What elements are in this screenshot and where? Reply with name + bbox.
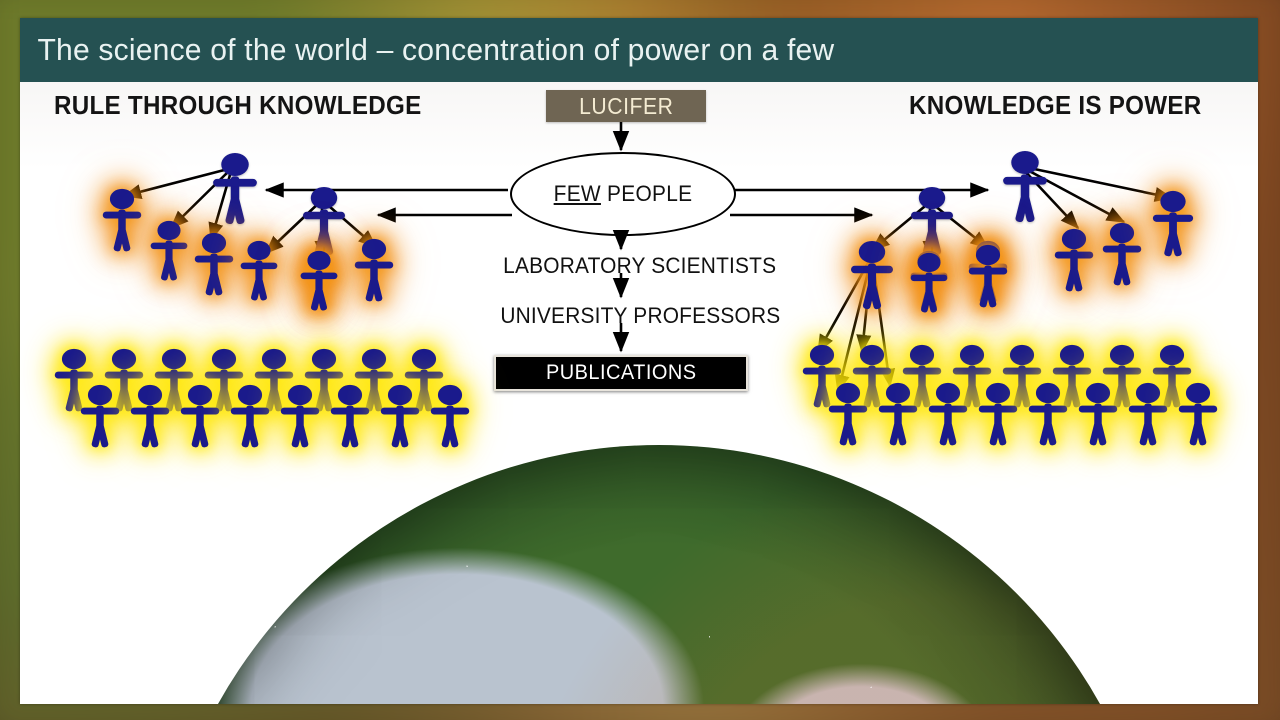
few-emphasis: FEW — [554, 181, 601, 206]
globe-stars-overlay — [154, 445, 1164, 704]
step-label: LABORATORY SCIENTISTS — [503, 253, 776, 279]
slide-canvas: The science of the world – concentration… — [0, 0, 1280, 720]
heading-rule-through-knowledge: RULE THROUGH KNOWLEDGE — [54, 90, 421, 121]
few-people-ellipse: FEW PEOPLE — [510, 152, 736, 236]
people-rest: PEOPLE — [601, 181, 692, 206]
publications-label: PUBLICATIONS — [546, 361, 697, 385]
earth-globe-image — [154, 445, 1164, 704]
step-label: UNIVERSITY PROFESSORS — [500, 303, 780, 329]
lucifer-box: LUCIFER — [546, 90, 706, 122]
page-title: The science of the world – concentration… — [20, 32, 834, 68]
step-university-professors: UNIVERSITY PROFESSORS — [0, 303, 1280, 329]
step-laboratory-scientists: LABORATORY SCIENTISTS — [0, 253, 1280, 279]
heading-knowledge-is-power: KNOWLEDGE IS POWER — [909, 90, 1202, 121]
title-bar: The science of the world – concentration… — [20, 18, 1258, 82]
lucifer-label: LUCIFER — [579, 93, 673, 120]
publications-box: PUBLICATIONS — [494, 355, 748, 391]
few-people-label: FEW PEOPLE — [554, 181, 693, 207]
